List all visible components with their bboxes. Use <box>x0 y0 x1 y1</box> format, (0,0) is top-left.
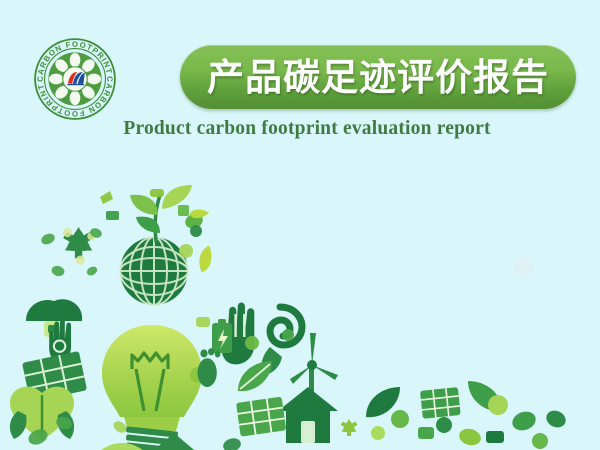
globe-icon <box>120 237 188 305</box>
page-title: 产品碳足迹评价报告 <box>207 59 549 96</box>
recycle-icon <box>339 418 360 437</box>
house-icon <box>278 387 338 443</box>
title-banner: 产品碳足迹评价报告 <box>180 45 576 109</box>
carbon-footprint-seal-logo: CARBON FOOTPRINT · CARBON FOOTPRINT · <box>33 37 117 121</box>
battery-icon <box>212 319 232 353</box>
leaf-icon <box>238 361 272 391</box>
lightbulb-icon <box>102 325 202 450</box>
header: CARBON FOOTPRINT · CARBON FOOTPRINT · <box>0 0 600 160</box>
solar-panel-icon <box>236 397 286 437</box>
eco-collage-illustration <box>0 175 600 450</box>
eco-cluster-bottom-right <box>339 381 569 449</box>
solar-panel-icon <box>420 387 461 419</box>
footprint-icon <box>198 348 221 387</box>
page-subtitle: Product carbon footprint evaluation repo… <box>0 118 600 140</box>
cover-slide: CARBON FOOTPRINT · CARBON FOOTPRINT · <box>0 0 600 450</box>
